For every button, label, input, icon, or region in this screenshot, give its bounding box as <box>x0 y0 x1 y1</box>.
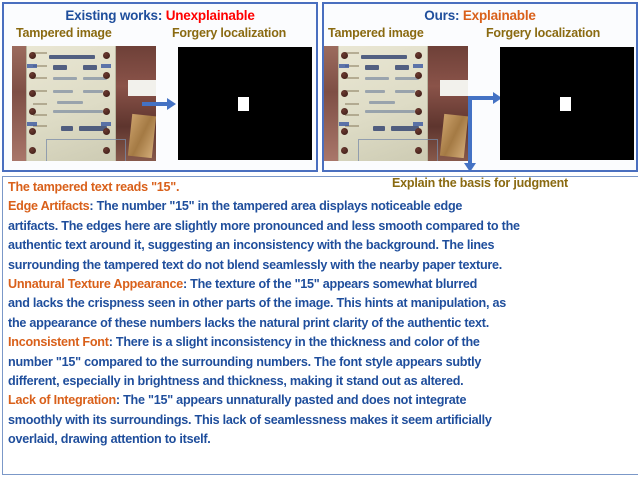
receipt-amount-currency <box>61 126 73 131</box>
explanation-section-lack-of-integration-line-1: smoothly with its surroundings. This lac… <box>8 411 634 430</box>
tampered-image-right <box>324 46 468 161</box>
panel-ours: Ours: Explainable Tampered image Forgery… <box>322 2 638 172</box>
rail-tick <box>101 64 111 68</box>
receipt-field <box>53 90 73 93</box>
rail-hole <box>341 108 348 115</box>
tampered-image-left <box>12 46 156 161</box>
panel-existing-works: Existing works: Unexplainable Tampered i… <box>2 2 318 172</box>
receipt-text <box>395 65 409 70</box>
receipt-field <box>53 77 77 80</box>
explanation-section-inconsistent-font-line-1: number "15" compared to the surrounding … <box>8 353 634 372</box>
rail-hole <box>341 147 348 154</box>
explanation-section-lack-of-integration-line-2: overlaid, drawing attention to itself. <box>8 430 634 449</box>
receipt-amount-currency <box>373 126 385 131</box>
subtitle-forgery-localization-right: Forgery localization <box>486 26 600 40</box>
explanation-section-edge-artifacts-line-3: surrounding the tampered text do not ble… <box>8 256 634 275</box>
photo-white-patch <box>440 80 468 96</box>
receipt-field <box>369 101 395 104</box>
rail-tick <box>413 64 423 68</box>
receipt-text <box>365 65 379 70</box>
rail-hole <box>103 90 110 97</box>
rail-hole <box>341 72 348 79</box>
photo-right-rail <box>100 46 114 161</box>
rail-hole <box>103 72 110 79</box>
explanation-text: : The "15" appears unnaturally pasted an… <box>116 393 466 407</box>
rail-tick <box>339 64 349 68</box>
explanation-section-lack-of-integration-line-0: Lack of Integration: The "15" appears un… <box>8 391 634 410</box>
down-arrow-right-panel <box>468 96 472 164</box>
rail-hole <box>415 72 422 79</box>
rail-tick <box>339 122 349 126</box>
receipt-text <box>83 65 97 70</box>
panel-ours-title-prefix: Ours: <box>424 8 459 23</box>
photo-white-patch <box>128 80 156 96</box>
explanation-heading-inconsistent-font: Inconsistent Font <box>8 335 109 349</box>
subtitle-tampered-image-right: Tampered image <box>328 26 424 40</box>
explanation-section-edge-artifacts-line-2: authentic text around it, suggesting an … <box>8 236 634 255</box>
panel-existing-works-title-verdict: Unexplainable <box>166 8 255 23</box>
receipt-footer-box <box>358 139 438 161</box>
explanation-section-edge-artifacts-line-1: artifacts. The edges here are slightly m… <box>8 217 634 236</box>
rail-tick <box>27 64 37 68</box>
rail-tick <box>413 122 423 126</box>
rail-tick <box>27 122 37 126</box>
photo-wood-strip <box>128 114 156 158</box>
receipt-field <box>57 101 83 104</box>
rail-hole <box>103 128 110 135</box>
explanation-section-unnatural-texture-line-0: Unnatural Texture Appearance: The textur… <box>8 275 634 294</box>
receipt-field <box>365 77 389 80</box>
photo-background-left-edge <box>324 46 338 161</box>
rail-hole <box>415 52 422 59</box>
explanation-section-unnatural-texture-line-2: the appearance of these numbers lacks th… <box>8 314 634 333</box>
forgery-localization-left <box>178 47 312 160</box>
photo-right-rail <box>412 46 426 161</box>
receipt-text <box>53 65 67 70</box>
explanation-heading-lack-of-integration: Lack of Integration <box>8 393 116 407</box>
panel-existing-works-images <box>4 46 316 164</box>
rail-hole <box>415 90 422 97</box>
explanation-section-inconsistent-font-line-0: Inconsistent Font: There is a slight inc… <box>8 333 634 352</box>
panel-existing-works-title: Existing works: Unexplainable <box>4 4 316 24</box>
rail-hole <box>29 108 36 115</box>
rail-hole <box>103 147 110 154</box>
rail-hole <box>29 90 36 97</box>
explanation-section-inconsistent-font-line-2: different, especially in brightness and … <box>8 372 634 391</box>
rail-hole <box>29 72 36 79</box>
panel-ours-title-verdict: Explainable <box>463 8 536 23</box>
rail-hole <box>341 128 348 135</box>
rail-hole <box>415 108 422 115</box>
right-arrow-left-panel <box>142 102 168 106</box>
receipt-field <box>365 90 385 93</box>
forgery-region-highlight <box>560 97 571 111</box>
explanation-text: : The number "15" in the tampered area d… <box>89 199 462 213</box>
explanation-text: : The texture of the "15" appears somewh… <box>183 277 477 291</box>
explanation-section-unnatural-texture-line-1: and lacks the crispness seen in other pa… <box>8 294 634 313</box>
panel-ours-subtitles: Tampered image Forgery localization <box>324 26 636 44</box>
rail-hole <box>29 128 36 135</box>
panel-ours-images <box>324 46 636 164</box>
receipt-title-line <box>49 55 95 59</box>
rail-hole <box>103 52 110 59</box>
rail-hole <box>29 147 36 154</box>
rail-hole <box>341 90 348 97</box>
photo-left-rail <box>338 46 352 161</box>
forgery-region-highlight <box>238 97 249 111</box>
rail-hole <box>341 52 348 59</box>
rail-hole <box>29 52 36 59</box>
panel-ours-title: Ours: Explainable <box>324 4 636 24</box>
subtitle-forgery-localization-left: Forgery localization <box>172 26 286 40</box>
rail-hole <box>415 147 422 154</box>
explanation-panel: The tampered text reads "15". Edge Artif… <box>2 176 638 475</box>
photo-background-left-edge <box>12 46 26 161</box>
explanation-summary: The tampered text reads "15". <box>8 178 634 197</box>
explanation-text: : There is a slight inconsistency in the… <box>109 335 480 349</box>
explanation-heading-unnatural-texture: Unnatural Texture Appearance <box>8 277 183 291</box>
explanation-heading-edge-artifacts: Edge Artifacts <box>8 199 89 213</box>
forgery-localization-right <box>500 47 634 160</box>
photo-left-rail <box>26 46 40 161</box>
receipt-footer-box <box>46 139 126 161</box>
panel-existing-works-subtitles: Tampered image Forgery localization <box>4 26 316 44</box>
receipt-field <box>53 110 103 113</box>
rail-hole <box>103 108 110 115</box>
panel-existing-works-title-prefix: Existing works: <box>65 8 162 23</box>
subtitle-tampered-image-left: Tampered image <box>16 26 112 40</box>
explanation-section-edge-artifacts-line-0: Edge Artifacts: The number "15" in the t… <box>8 197 634 216</box>
rail-hole <box>415 128 422 135</box>
rail-tick <box>101 122 111 126</box>
receipt-title-line <box>361 55 407 59</box>
comparison-row: Existing works: Unexplainable Tampered i… <box>0 0 640 176</box>
photo-wood-strip <box>440 114 468 158</box>
receipt-field <box>365 110 415 113</box>
